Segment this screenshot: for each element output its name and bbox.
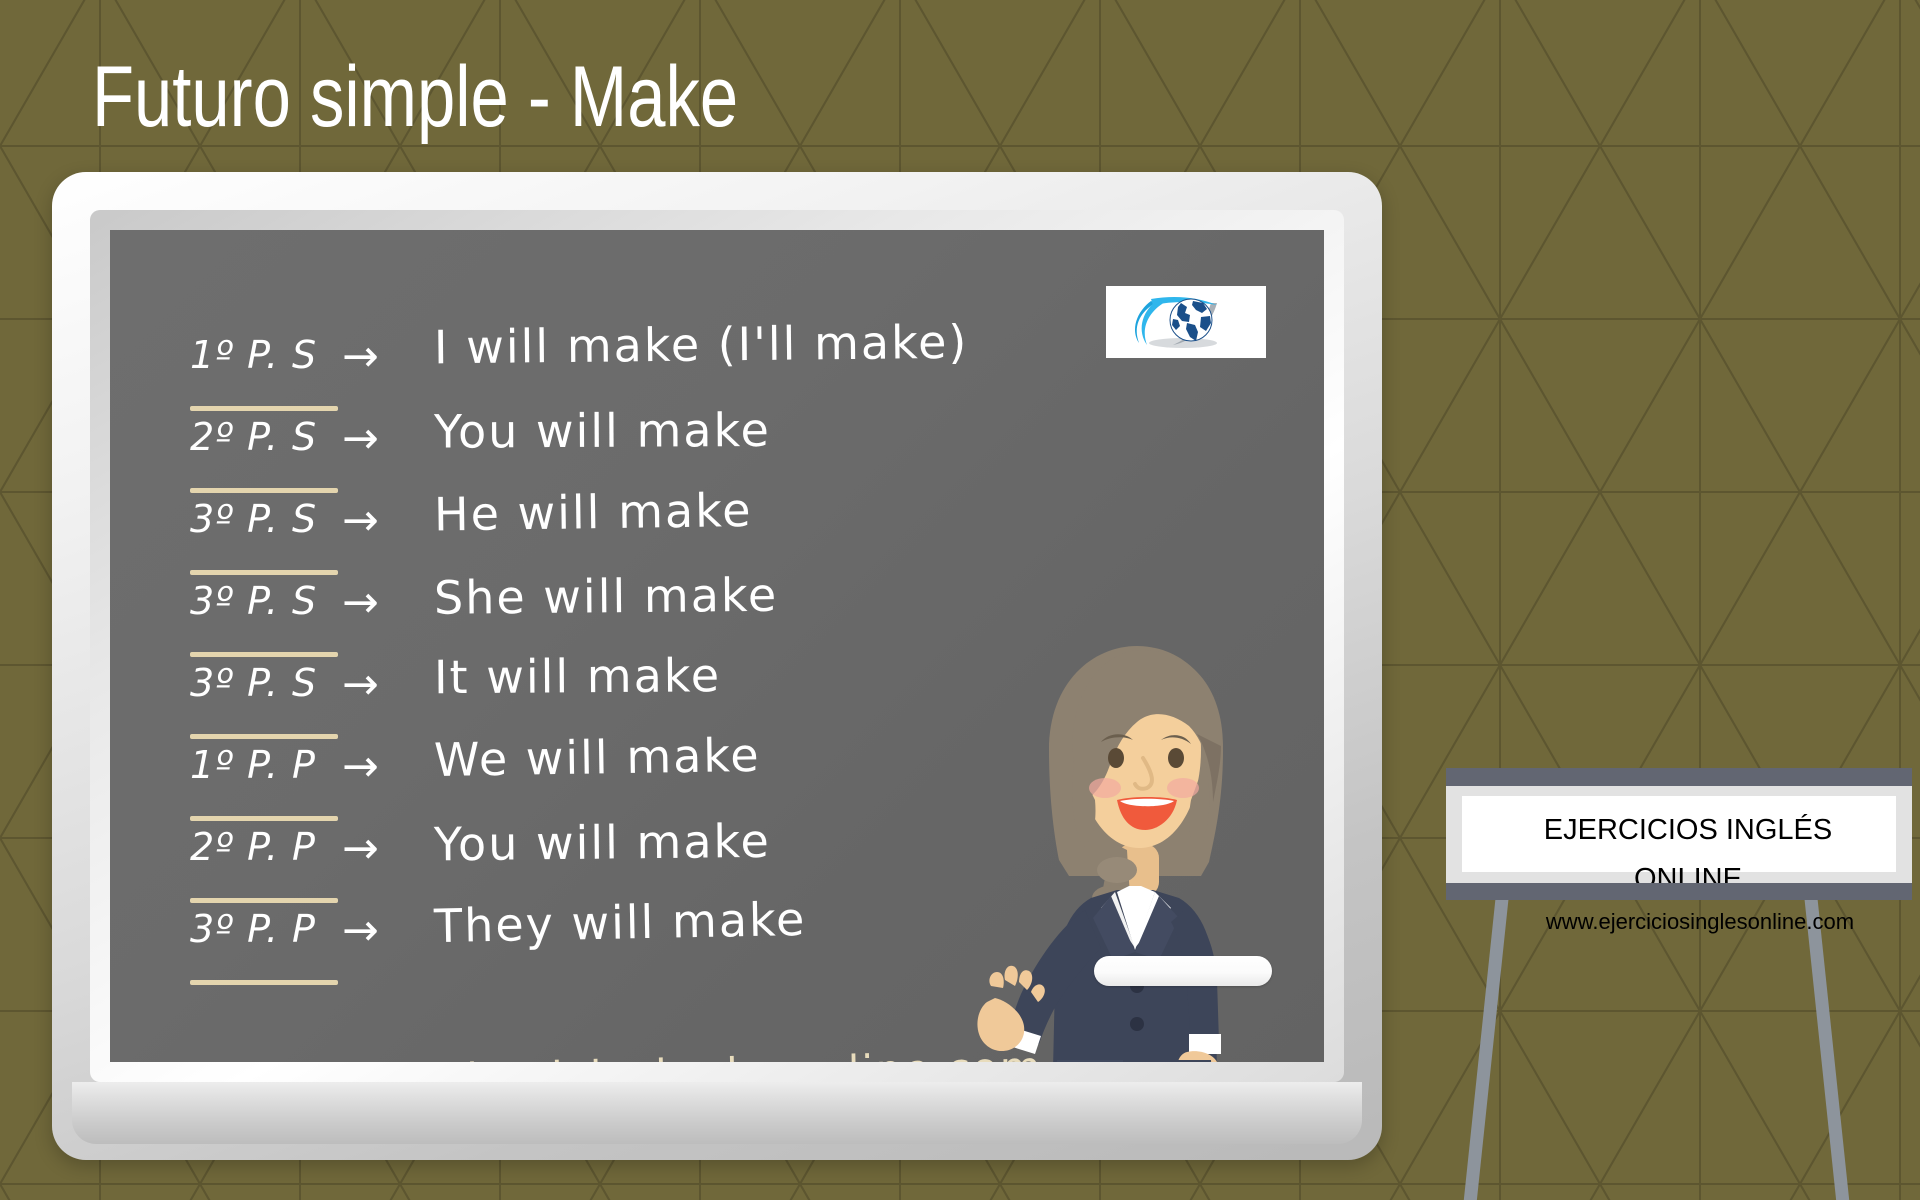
- arrow-icon: →: [342, 571, 434, 625]
- chalkboard: 1º P. S → I will make (I'll make) 2º P. …: [52, 172, 1382, 1160]
- chalkboard-surface: 1º P. S → I will make (I'll make) 2º P. …: [110, 230, 1324, 1062]
- easel-text-block: EJERCICIOS INGLÉS ONLINE www.ejerciciosi…: [1480, 806, 1896, 935]
- conjugation-row: 2º P. S → You will make: [190, 407, 1070, 489]
- easel-heading-line-1: EJERCICIOS INGLÉS: [1480, 806, 1896, 855]
- person-label: 1º P. P: [190, 735, 342, 787]
- conjugation-phrase: He will make: [434, 483, 1071, 538]
- easel-board-surface: EJERCICIOS INGLÉS ONLINE www.ejerciciosi…: [1462, 796, 1896, 872]
- slide-canvas: Futuro simple - Make: [0, 0, 1920, 1200]
- conjugation-row: 3º P. S → It will make: [190, 653, 1070, 735]
- easel-bottom-bar: [1446, 883, 1912, 900]
- easel-leg-left: [1464, 893, 1509, 1200]
- arrow-icon: →: [342, 407, 434, 461]
- globe-swoosh-logo: [1106, 286, 1266, 358]
- page-title: Futuro simple - Make: [92, 52, 738, 142]
- conjugation-row: 2º P. P → You will make: [190, 817, 1070, 899]
- person-label: 2º P. S: [190, 407, 342, 459]
- easel-url: www.ejerciciosinglesonline.com: [1504, 909, 1896, 935]
- person-label: 1º P. S: [190, 325, 342, 377]
- conjugation-row: 3º P. S → He will make: [190, 489, 1070, 571]
- conjugation-row: 1º P. S → I will make (I'll make): [190, 325, 1070, 407]
- person-label: 2º P. P: [190, 817, 342, 869]
- conjugation-phrase: You will make: [434, 405, 1070, 454]
- waving-teacher-illustration: [965, 630, 1305, 1062]
- arrow-icon: →: [342, 735, 434, 789]
- person-label: 3º P. S: [190, 571, 342, 623]
- conjugation-list: 1º P. S → I will make (I'll make) 2º P. …: [190, 325, 1070, 981]
- chalkboard-url: www.ejerciciosinglesonline.com: [318, 1042, 1044, 1062]
- person-label: 3º P. S: [190, 489, 342, 541]
- conjugation-phrase: She will make: [434, 569, 1070, 621]
- chalk-stick: [1094, 956, 1272, 986]
- easel-whiteboard: EJERCICIOS INGLÉS ONLINE www.ejerciciosi…: [1432, 768, 1920, 1200]
- arrow-icon: →: [342, 489, 434, 543]
- arrow-icon: →: [342, 325, 434, 379]
- person-label: 3º P. S: [190, 653, 342, 705]
- conjugation-row: 3º P. S → She will make: [190, 571, 1070, 653]
- conjugation-phrase: I will make (I'll make): [434, 318, 1070, 371]
- chalkboard-ledge: [72, 1082, 1362, 1144]
- conjugation-row: 1º P. P → We will make: [190, 735, 1070, 817]
- person-label: 3º P. P: [190, 899, 342, 951]
- easel-board: EJERCICIOS INGLÉS ONLINE www.ejerciciosi…: [1446, 768, 1912, 900]
- easel-top-bar: [1446, 768, 1912, 786]
- easel-leg-right: [1804, 893, 1849, 1200]
- conjugation-row: 3º P. P → They will make: [190, 899, 1070, 981]
- easel-frame: EJERCICIOS INGLÉS ONLINE www.ejerciciosi…: [1446, 784, 1912, 884]
- arrow-icon: →: [342, 899, 434, 953]
- person-underline: [190, 980, 338, 985]
- teacher-svg: [965, 630, 1305, 1062]
- arrow-icon: →: [342, 817, 434, 871]
- arrow-icon: →: [342, 653, 434, 707]
- globe-icon: [1121, 293, 1251, 351]
